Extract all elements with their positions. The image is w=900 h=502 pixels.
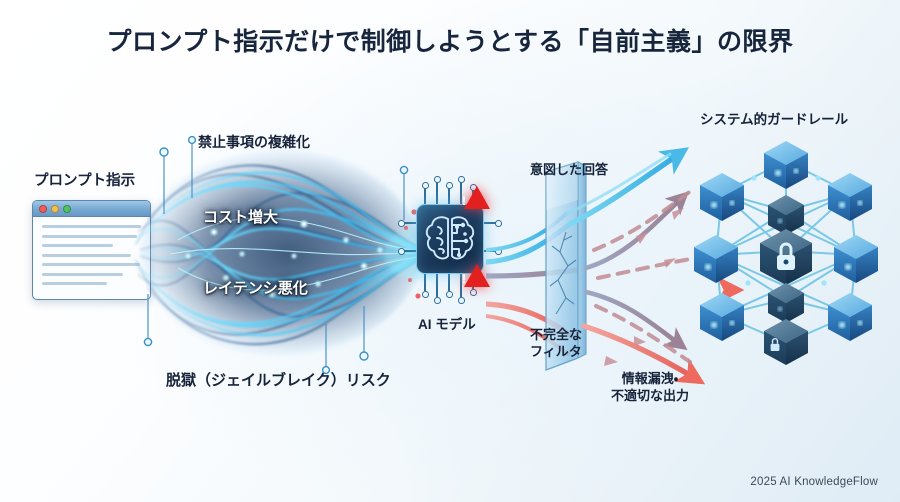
imperfect-filter-label-line1: 不完全な [530,327,582,342]
leak-output-label: 情報漏洩・ 不適切な出力 [611,371,689,404]
cube-node [828,173,872,221]
leak-output-label-line1: 情報漏洩・ [622,371,678,386]
cube-node [828,293,872,341]
prohibition-complexity-label: 禁止事項の複雑化 [198,134,310,152]
infographic-canvas: プロンプト指示だけで制御しようとする「自前主義」の限界 プロンプト指示 [0,0,900,502]
cube-node [700,293,744,341]
cube-node [768,283,804,323]
window-dot-minimize [51,205,59,213]
window-dot-maximize [63,205,71,213]
cube-node [764,141,808,189]
latency-degradation-label: レイテンシ悪化 [203,279,308,298]
prompt-complexity-tangle [118,128,438,378]
leak-output-label-line2: 不適切な出力 [611,388,689,403]
brain-chip-icon [417,205,483,273]
ai-model-label: AI モデル [418,316,476,333]
guardrail-cube-network [686,133,886,368]
cube-node [834,235,878,283]
intended-answer-label: 意図した回答 [530,162,608,179]
cube-node [700,173,744,221]
system-guardrail-label: システム的ガードレール [700,111,848,128]
cube-node [694,235,738,283]
footer-credit: 2025 AI KnowledgeFlow [750,476,878,488]
jailbreak-risk-label: 脱獄（ジェイルブレイク）リスク [166,371,391,390]
window-dot-close [39,205,47,213]
cost-increase-label: コスト増大 [203,208,278,227]
imperfect-filter-label: 不完全な フィルタ [530,327,582,360]
page-title: プロンプト指示だけで制御しようとする「自前主義」の限界 [0,22,900,58]
cube-node [764,319,808,365]
cube-node-lock [760,229,812,285]
imperfect-filter-label-line2: フィルタ [530,344,582,359]
